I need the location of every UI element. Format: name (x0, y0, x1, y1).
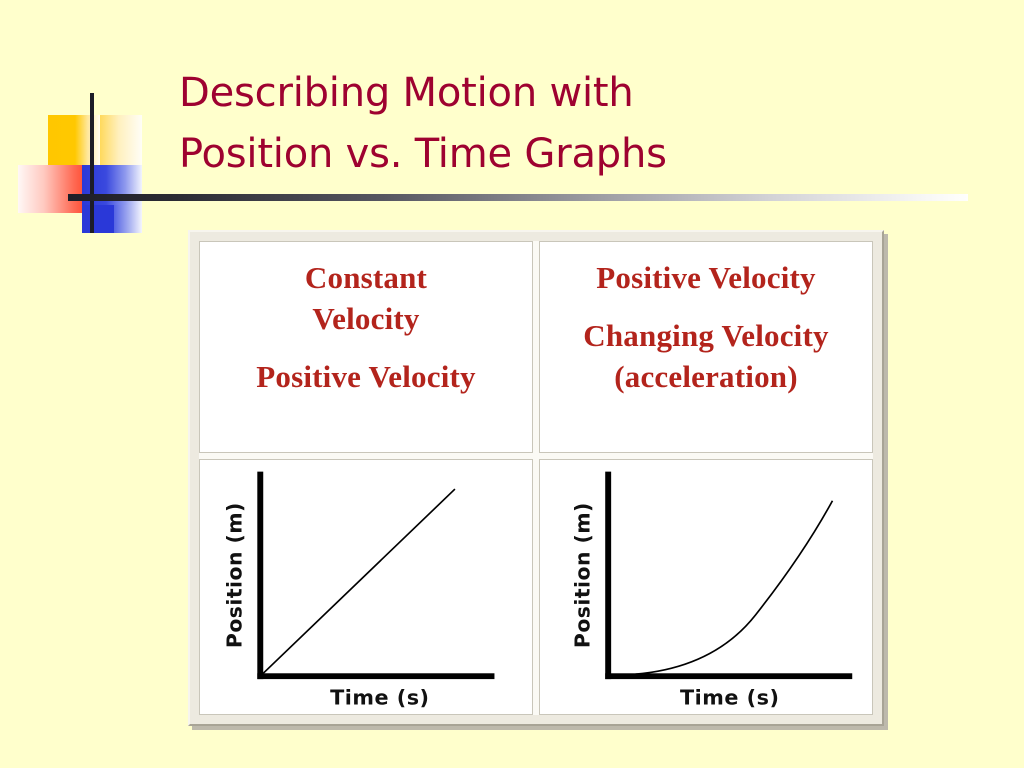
red-block-icon (18, 165, 92, 213)
header-text-constant-velocity: Constant Velocity (305, 258, 427, 340)
y-axis (605, 472, 611, 679)
vertical-bar-icon (90, 93, 94, 233)
yellow-fade-icon (100, 115, 142, 171)
header-text-positive-velocity-2: Positive Velocity (596, 258, 816, 299)
title-divider (68, 194, 968, 201)
graph-table-picture: Constant Velocity Positive Velocity Posi… (188, 230, 884, 726)
blends-design-motif-icon (18, 93, 148, 233)
blue-foot-icon (82, 205, 114, 233)
accelerating-chart: Position (m) Time (s) (540, 460, 872, 714)
x-axis-label: Time (s) (330, 685, 429, 709)
graph-cell-constant-velocity: Position (m) Time (s) (199, 459, 533, 715)
constant-velocity-chart: Position (m) Time (s) (200, 460, 532, 714)
header-text-changing-velocity: Changing Velocity (acceleration) (583, 316, 828, 398)
slide: Describing Motion with Position vs. Time… (0, 0, 1024, 768)
table-header-cell-changing-velocity: Positive Velocity Changing Velocity (acc… (539, 241, 873, 453)
header-text-positive-velocity: Positive Velocity (256, 357, 476, 398)
page-title: Describing Motion with Position vs. Time… (179, 63, 819, 185)
y-axis-label: Position (m) (570, 502, 594, 648)
x-axis-label: Time (s) (680, 685, 779, 709)
graph-cell-changing-velocity: Position (m) Time (s) (539, 459, 873, 715)
blue-foot-fade-icon (114, 205, 142, 233)
graph-table: Constant Velocity Positive Velocity Posi… (199, 241, 873, 715)
y-axis (257, 472, 263, 679)
x-axis (257, 673, 494, 679)
data-line-linear (261, 489, 455, 675)
data-curve-quadratic (611, 501, 832, 676)
y-axis-label: Position (m) (222, 502, 246, 648)
table-header-cell-constant-velocity: Constant Velocity Positive Velocity (199, 241, 533, 453)
